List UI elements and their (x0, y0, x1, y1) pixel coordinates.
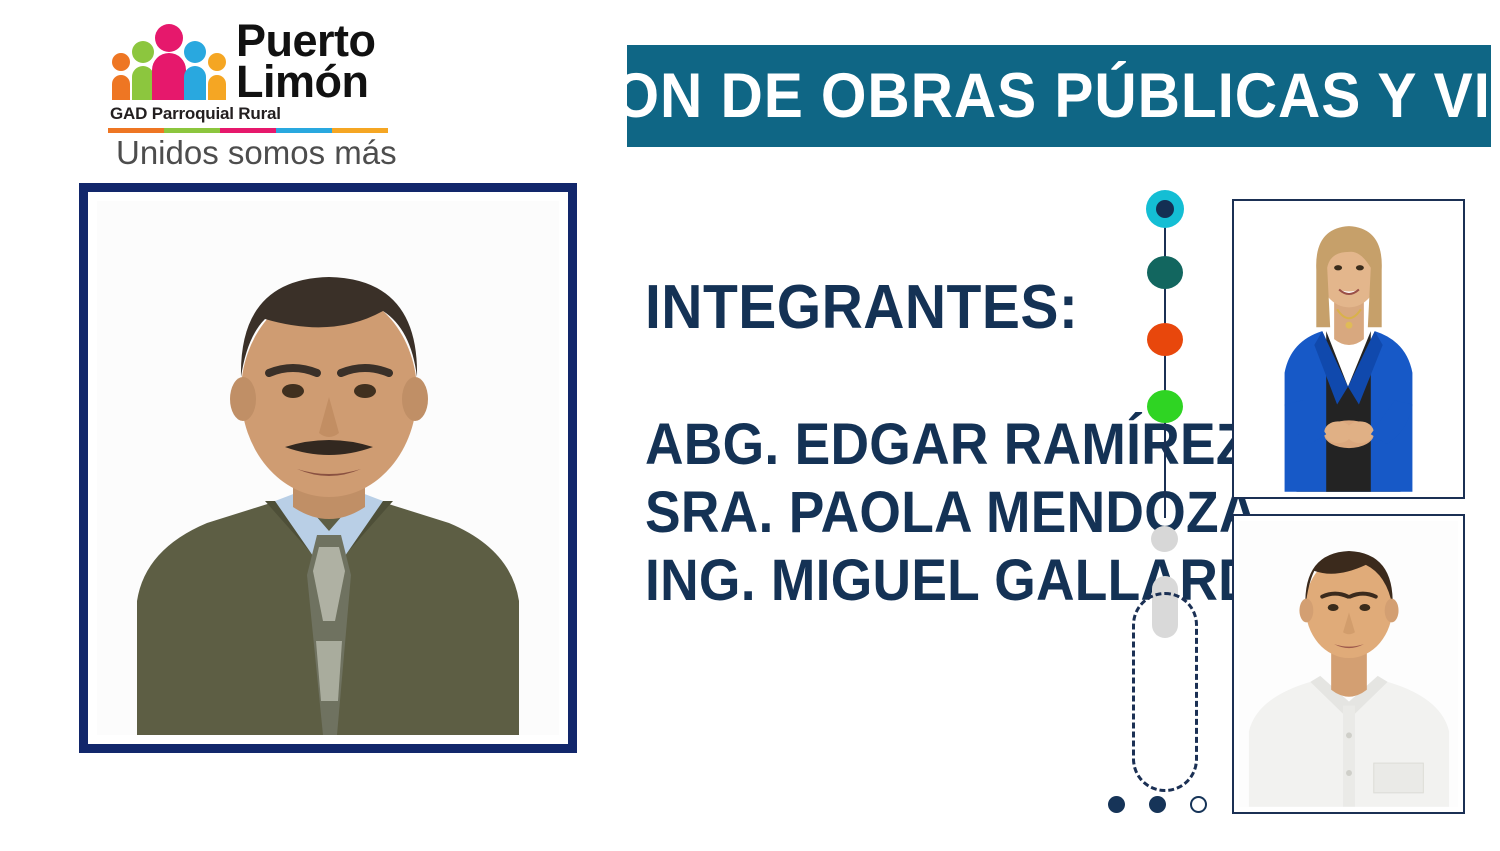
pagination-indicator[interactable] (1108, 796, 1207, 813)
slide-header-banner: COMISION DE OBRAS PÚBLICAS Y VIALIDAD (627, 45, 1491, 147)
colorbar-segment-orange (108, 128, 164, 133)
timeline-dot-gray (1151, 526, 1178, 552)
pagination-dot-1[interactable] (1108, 796, 1125, 813)
logo-tagline: Unidos somos más (116, 134, 397, 172)
pagination-dot-2[interactable] (1149, 796, 1166, 813)
timeline-dot-teal (1147, 256, 1183, 289)
logo-wordmark-line-2: Limón (236, 61, 411, 102)
main-portrait-frame (79, 183, 577, 753)
logo-wordmark: Puerto Limón (236, 20, 411, 103)
timeline-decoration (1120, 180, 1230, 820)
timeline-dot-cyan-core (1156, 200, 1174, 218)
colorbar-segment-magenta (220, 128, 276, 133)
page-title: COMISION DE OBRAS PÚBLICAS Y VIALIDAD (400, 65, 1500, 128)
side-portrait-photo-1 (1239, 206, 1458, 492)
pagination-dot-3[interactable] (1190, 796, 1207, 813)
timeline-dot-orange (1147, 323, 1183, 356)
side-portrait-frame-1 (1232, 199, 1465, 499)
colorbar-segment-blue (276, 128, 332, 133)
people-group-logo-icon (108, 22, 230, 100)
side-portrait-frame-2 (1232, 514, 1465, 814)
timeline-dot-cyan-ring (1146, 190, 1184, 228)
colorbar-segment-green (164, 128, 220, 133)
timeline-dashed-pill-outline (1132, 592, 1198, 792)
logo-color-bar (108, 128, 388, 133)
colorbar-segment-yellow (332, 128, 388, 133)
main-portrait-photo (97, 201, 559, 735)
organization-logo: Puerto Limón GAD Parroquial Rural Unidos… (108, 22, 408, 170)
timeline-dot-green (1147, 390, 1183, 423)
presentation-slide: Puerto Limón GAD Parroquial Rural Unidos… (0, 0, 1500, 851)
logo-subtitle: GAD Parroquial Rural (110, 104, 281, 124)
logo-wordmark-line-1: Puerto (236, 20, 411, 61)
side-portrait-photo-2 (1239, 521, 1458, 807)
